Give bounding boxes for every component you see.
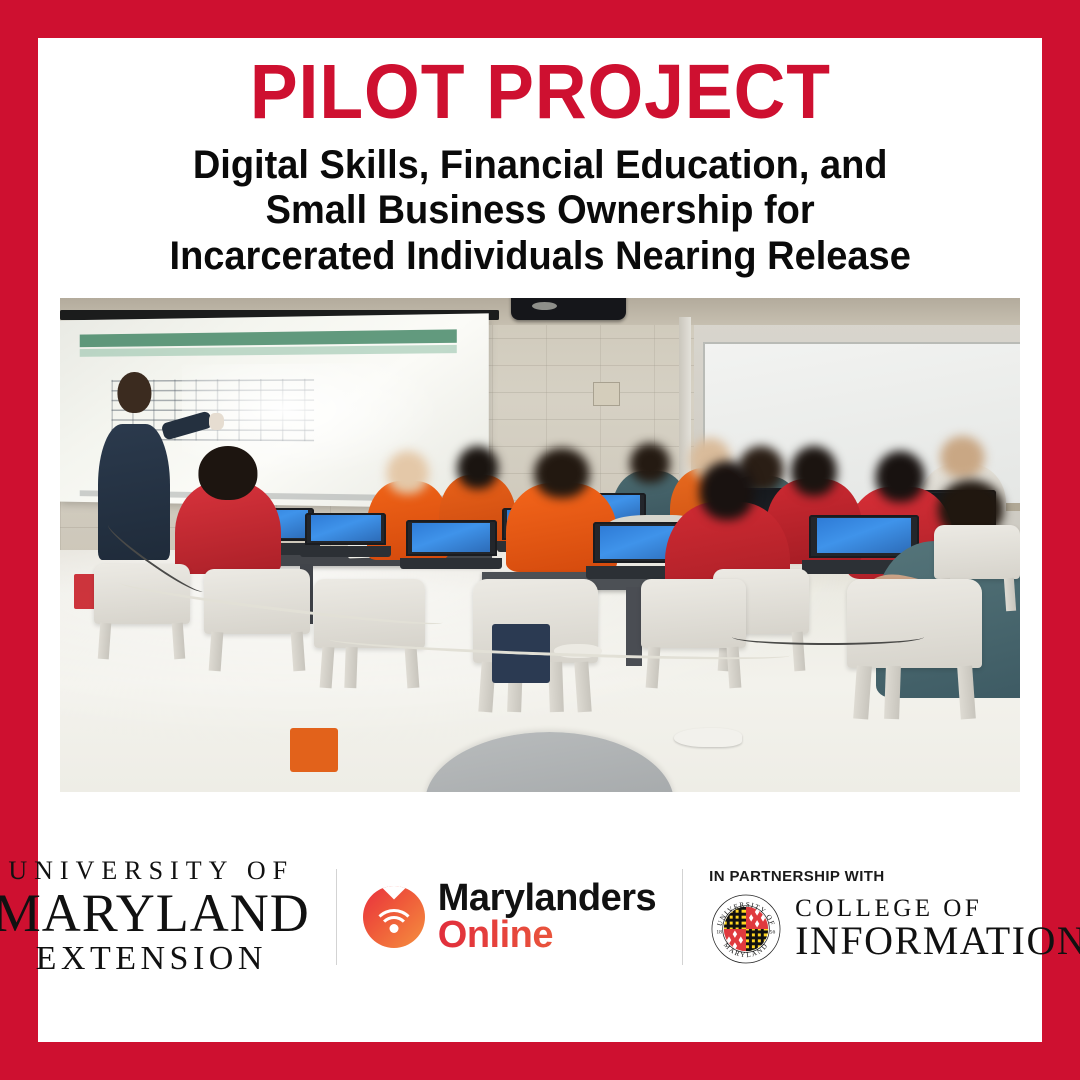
instructor-head [118, 372, 151, 413]
participant-head [534, 448, 589, 497]
chair-leg [290, 632, 304, 671]
participant [175, 446, 281, 574]
svg-text:18: 18 [717, 929, 723, 935]
participant-head [387, 451, 429, 494]
heart-notch [382, 886, 406, 900]
chair-leg [345, 647, 359, 689]
classroom-photo [60, 298, 1020, 792]
extension-line-1: UNIVERSITY OF [0, 858, 310, 884]
laptop-screen [311, 515, 381, 541]
marylanders-online-logo: Marylanders Online [337, 880, 682, 953]
chair-leg [548, 661, 563, 712]
wifi-dot [389, 924, 398, 933]
plastic-chair [641, 579, 747, 648]
umd-seal-icon: UNIVERSITY OF MARYLAND 18 56 [709, 892, 783, 966]
power-cable [732, 629, 924, 645]
laptop-lid [406, 520, 497, 556]
instructor [98, 372, 170, 560]
projected-subheader-bar [80, 345, 457, 356]
subtitle-line-1: Digital Skills, Financial Education, and [169, 143, 910, 188]
poster-subtitle: Digital Skills, Financial Education, and… [169, 143, 910, 279]
svg-text:56: 56 [770, 929, 776, 935]
poster-panel: PILOT PROJECT Digital Skills, Financial … [38, 38, 1042, 1042]
participant-head [457, 446, 498, 490]
photo-scene [60, 298, 1020, 792]
wifi-heart-icon [363, 886, 425, 948]
trouser-leg [290, 728, 338, 772]
umd-extension-logo: UNIVERSITY OF MARYLAND EXTENSION [0, 858, 336, 976]
plastic-chair [934, 525, 1020, 579]
laptop [305, 513, 387, 557]
plastic-chair [847, 579, 981, 668]
marylanders-word: Marylanders [438, 880, 656, 916]
sneaker [674, 728, 741, 748]
participant-head [198, 446, 257, 500]
subtitle-line-2: Small Business Ownership for [169, 188, 910, 233]
laptop-lid [305, 513, 387, 545]
laptop-base [400, 558, 502, 570]
extension-line-3: EXTENSION [0, 942, 310, 976]
partnership-label: IN PARTNERSHIP WITH [709, 868, 1080, 885]
college-line-2: INFORMATION [795, 921, 1080, 962]
subtitle-line-3: Incarcerated Individuals Nearing Release [169, 234, 910, 279]
poster-frame: PILOT PROJECT Digital Skills, Financial … [0, 0, 1080, 1080]
wall-switch-plate [593, 382, 620, 407]
logo-row: UNIVERSITY OF MARYLAND EXTENSION Marylan… [38, 792, 1042, 1042]
extension-line-2: MARYLAND [0, 886, 310, 940]
college-of-information-logo: IN PARTNERSHIP WITH [683, 868, 1080, 966]
ceiling-projector [511, 298, 626, 320]
participant-head [791, 446, 837, 496]
online-word: Online [438, 917, 656, 953]
laptop-base [300, 546, 391, 557]
instructor-hand [209, 413, 223, 430]
chair-leg [884, 666, 901, 720]
laptop-screen [412, 523, 490, 552]
participant-head [700, 461, 755, 520]
page-title: PILOT PROJECT [249, 56, 830, 129]
laptop [406, 520, 497, 569]
